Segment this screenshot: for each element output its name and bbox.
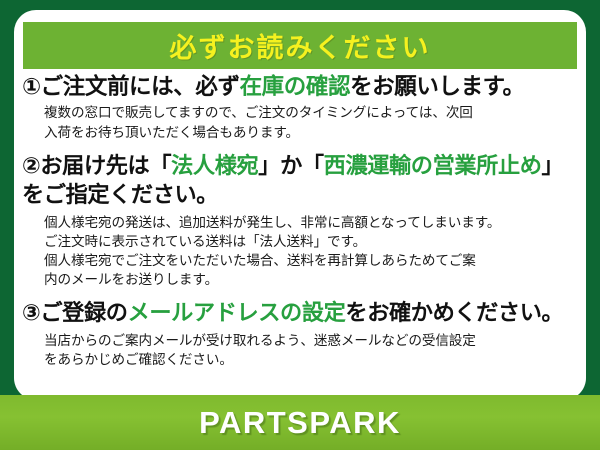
- notice-item-2-subline-2: ご注文時に表示されている送料は「法人送料」です。: [44, 232, 580, 251]
- notice-item-2-heading-line-1: ②お届け先は「法人様宛」か「西濃運輸の営業所止め」: [22, 152, 580, 181]
- notice-item-3-subline-1: 当店からのご案内メールが受け取れるよう、迷惑メールなどの受信設定: [44, 331, 580, 350]
- notice-item-2-heading-part-1: お届け先は「: [40, 153, 171, 178]
- notice-item-3-subtext: 当店からのご案内メールが受け取れるよう、迷惑メールなどの受信設定 をあらかじめご…: [44, 331, 580, 370]
- notice-item-3-heading-part-3: をお確かめください。: [345, 300, 563, 325]
- notice-item-2-subline-4: 内のメールをお送りします。: [44, 270, 580, 289]
- notice-item-3-heading: ③ご登録のメールアドレスの設定をお確かめください。: [22, 299, 580, 328]
- brand-logo: PARTSPARK: [199, 405, 401, 441]
- notice-item-3: ③ご登録のメールアドレスの設定をお確かめください。 当店からのご案内メールが受け…: [22, 299, 580, 369]
- notice-item-2-subline-3: 個人様宅宛でご注文をいただいた場合、送料を再計算しあらためてご案: [44, 251, 580, 270]
- notice-item-2-heading-accent-2: 西濃運輸の営業所止め: [324, 153, 542, 178]
- notice-item-1-heading-part-1: ご注文前には、必ず: [41, 74, 240, 99]
- notice-item-2-subtext: 個人様宅宛の発送は、追加送料が発生し、非常に高額となってしまいます。 ご注文時に…: [44, 213, 580, 290]
- notice-item-3-marker: ③: [22, 300, 40, 325]
- notice-item-2-subline-1: 個人様宅宛の発送は、追加送料が発生し、非常に高額となってしまいます。: [44, 213, 580, 232]
- notice-body: ①ご注文前には、必ず在庫の確認をお願いします。 複数の窓口で販売してますので、ご…: [14, 72, 586, 371]
- notice-item-2-heading-part-5: 」: [542, 153, 564, 178]
- notice-item-2-heading-part-6: をご指定ください。: [22, 182, 218, 207]
- notice-item-1-marker: ①: [22, 74, 41, 99]
- notice-item-3-heading-part-1: ご登録の: [40, 300, 127, 325]
- notice-card: 必ずお読みください ①ご注文前には、必ず在庫の確認をお願いします。 複数の窓口で…: [14, 10, 586, 400]
- notice-item-2: ②お届け先は「法人様宛」か「西濃運輸の営業所止め」 をご指定ください。 個人様宅…: [22, 152, 580, 290]
- notice-item-2-heading-line-2: をご指定ください。: [22, 181, 580, 210]
- notice-item-3-heading-accent: メールアドレスの設定: [128, 300, 346, 325]
- notice-item-1-subline-1: 複数の窓口で販売してますので、ご注文のタイミングによっては、次回: [44, 103, 580, 122]
- notice-item-3-subline-2: をあらかじめご確認ください。: [44, 350, 580, 369]
- notice-item-1-subline-2: 入荷をお待ち頂いただく場合もあります。: [44, 123, 580, 142]
- notice-item-1-heading: ①ご注文前には、必ず在庫の確認をお願いします。: [22, 72, 580, 101]
- notice-item-2-marker: ②: [22, 153, 40, 178]
- notice-item-2-heading-accent-1: 法人様宛: [171, 153, 258, 178]
- notice-banner: 必ずお読みください ①ご注文前には、必ず在庫の確認をお願いします。 複数の窓口で…: [0, 0, 600, 450]
- brand-footer: PARTSPARK: [0, 395, 600, 450]
- notice-header-band: 必ずお読みください: [23, 22, 577, 69]
- notice-item-2-heading-part-3: 」か「: [258, 153, 323, 178]
- notice-item-1: ①ご注文前には、必ず在庫の確認をお願いします。 複数の窓口で販売してますので、ご…: [22, 72, 580, 142]
- notice-item-1-heading-accent: 在庫の確認: [240, 74, 351, 99]
- notice-item-1-heading-part-3: をお願いします。: [350, 74, 525, 99]
- notice-item-1-subtext: 複数の窓口で販売してますので、ご注文のタイミングによっては、次回 入荷をお待ち頂…: [44, 103, 580, 142]
- page-title: 必ずお読みください: [170, 26, 431, 65]
